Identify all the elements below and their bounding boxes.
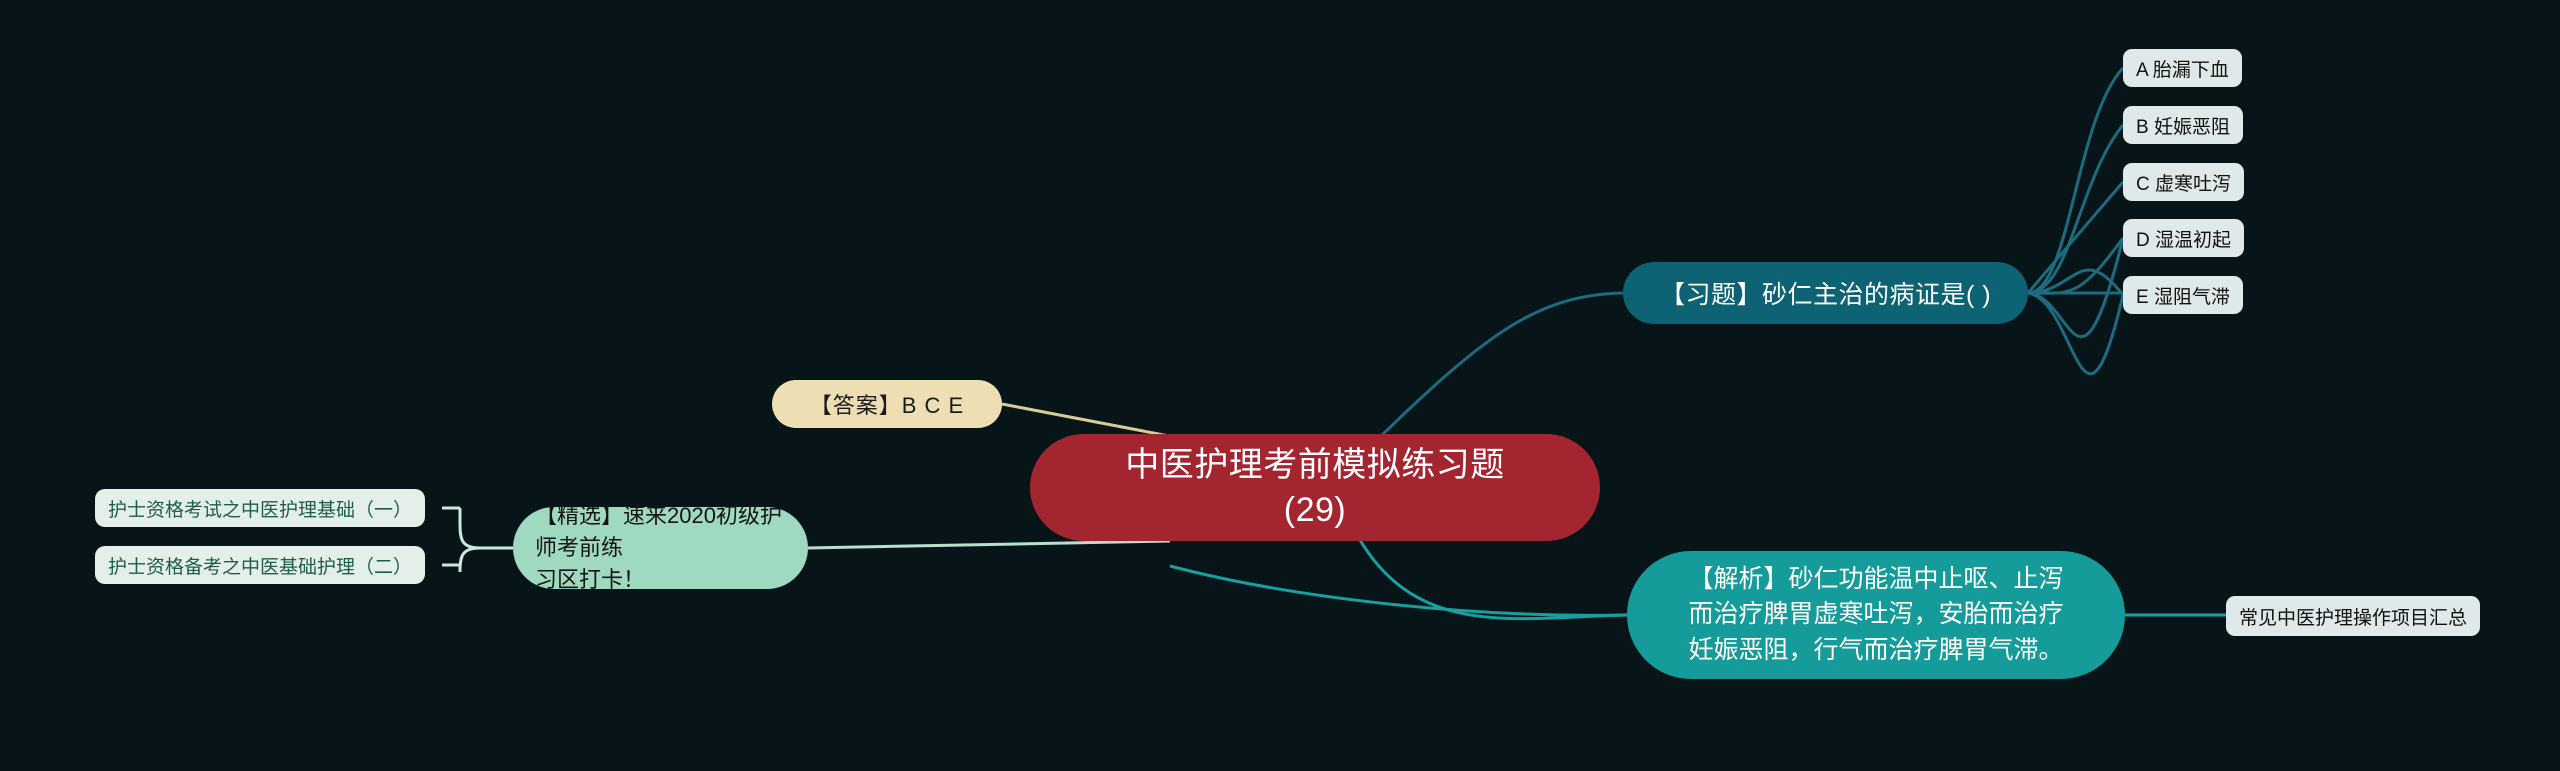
edge-featured-to-root [808, 541, 1170, 548]
explanation-node[interactable]: 【解析】砂仁功能温中止呕、止泻 而治疗脾胃虚寒吐泻，安胎而治疗 妊娠恶阻，行气而… [1627, 551, 2125, 679]
edge-question-to-option-e [2028, 270, 2123, 295]
edge-root-to-question [1380, 293, 1623, 437]
summary-node-label: 常见中医护理操作项目汇总 [2239, 603, 2467, 630]
option-node-d[interactable]: D 湿温初起 [2123, 219, 2244, 257]
answer-node-label: 【答案】B C E [810, 388, 964, 420]
edge-featured-to-leaf-b [460, 548, 513, 572]
question-node-label: 【习题】砂仁主治的病证是( ) [1660, 275, 1991, 311]
question-node[interactable]: 【习题】砂仁主治的病证是( ) [1623, 262, 2028, 324]
edge-root-to-explanation [1360, 540, 1627, 619]
summary-node[interactable]: 常见中医护理操作项目汇总 [2226, 596, 2480, 636]
leaf-node-2-label: 护士资格备考之中医基础护理（二） [108, 552, 412, 579]
option-label-b: B 妊娠恶阻 [2136, 112, 2230, 139]
option-node-a[interactable]: A 胎漏下血 [2123, 49, 2242, 87]
leaf-node-1-label: 护士资格考试之中医护理基础（一） [108, 495, 412, 522]
edge-question-fan-lower-e [2028, 293, 2123, 374]
explanation-node-label: 【解析】砂仁功能温中止呕、止泻 而治疗脾胃虚寒吐泻，安胎而治疗 妊娠恶阻，行气而… [1688, 562, 2063, 669]
edge-question-to-option-b [2028, 125, 2123, 293]
option-node-b[interactable]: B 妊娠恶阻 [2123, 106, 2243, 144]
edge-featured-to-leaf-a [460, 508, 513, 548]
mindmap-canvas: 中医护理考前模拟练习题 (29) 【习题】砂仁主治的病证是( ) 【解析】砂仁功… [0, 0, 2560, 771]
option-label-a: A 胎漏下血 [2136, 55, 2229, 82]
edge-question-to-option-a [2028, 68, 2123, 293]
edge-question-to-option-d [2028, 238, 2123, 293]
option-node-e[interactable]: E 湿阻气滞 [2123, 276, 2243, 314]
edge-question-to-option-c [2028, 182, 2123, 293]
option-label-c: C 虚寒吐泻 [2136, 169, 2231, 196]
leaf-node-1[interactable]: 护士资格考试之中医护理基础（一） [95, 489, 425, 527]
option-node-c[interactable]: C 虚寒吐泻 [2123, 163, 2244, 201]
featured-node[interactable]: 【精选】速来2020初级护师考前练 习区打卡！ [513, 507, 808, 589]
option-label-e: E 湿阻气滞 [2136, 282, 2230, 309]
root-node-label: 中医护理考前模拟练习题 (29) [1125, 443, 1505, 531]
option-label-d: D 湿温初起 [2136, 225, 2231, 252]
edge-question-fan-lower-d [2028, 238, 2123, 337]
edge-explanation-sweep [1170, 566, 1627, 615]
answer-node[interactable]: 【答案】B C E [772, 380, 1002, 428]
featured-node-label: 【精选】速来2020初级护师考前练 习区打卡！ [535, 500, 786, 596]
root-node[interactable]: 中医护理考前模拟练习题 (29) [1030, 434, 1600, 541]
leaf-node-2[interactable]: 护士资格备考之中医基础护理（二） [95, 546, 425, 584]
